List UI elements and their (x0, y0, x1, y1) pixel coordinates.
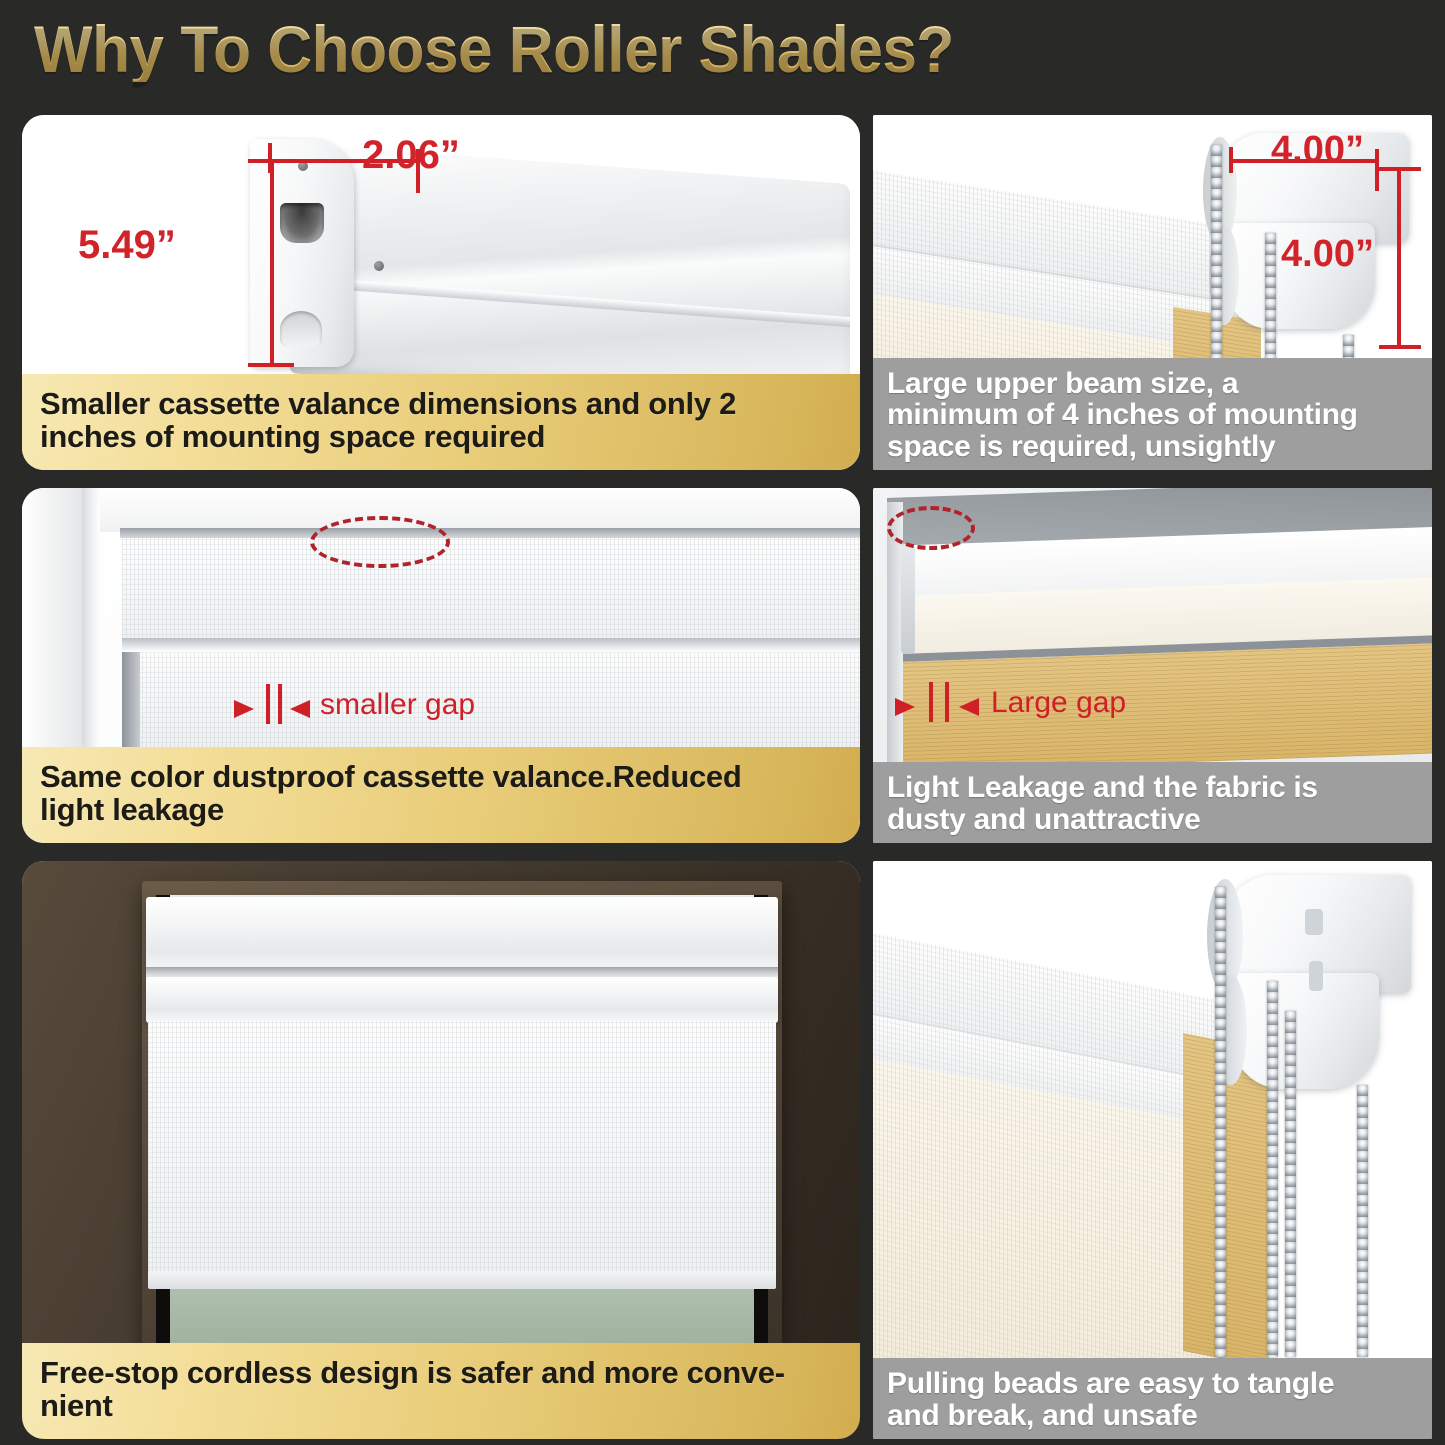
lower-bracket (1231, 973, 1379, 1089)
panel-caption: Pulling beads are easy to tangle and bre… (873, 1358, 1432, 1439)
cassette-valance (146, 897, 778, 975)
gap-arrow-left-icon (959, 698, 979, 716)
dusty-fabric (903, 643, 1432, 772)
height-dimension-tick-top (248, 159, 294, 163)
valance-lower-band (146, 977, 778, 1023)
height-dimension-label: 5.49” (78, 223, 176, 268)
gap-highlight-ellipse (310, 516, 450, 568)
bead-chain-icon (1285, 1011, 1296, 1357)
valance-bottom-rail (122, 638, 860, 652)
bracket-slot-icon (1309, 961, 1323, 991)
gap-arrow-right-icon (895, 698, 915, 716)
panel-caption: Light Leakage and the fabric is dusty an… (873, 762, 1432, 843)
panel-free-stop-cordless-design: Free-stop cordless design is safer and m… (22, 861, 860, 1439)
infographic-page: Why To Choose Roller Shades? 2.06” (0, 0, 1445, 1445)
panel-large-upper-beam: 4.00” 4.00” Large upper beam size, a min… (873, 115, 1432, 470)
page-title: Why To Choose Roller Shades? (34, 16, 954, 82)
fabric-side-edge (122, 652, 140, 748)
width-dimension-label: 4.00” (1271, 129, 1364, 172)
bottom-rail (148, 1271, 776, 1289)
panel-dustproof-cassette-valance: smaller gap Same color dustproof cassett… (22, 488, 860, 843)
gap-tick-left (929, 682, 933, 722)
width-dimension-tick-left (1229, 147, 1233, 173)
bead-chain-icon (1267, 981, 1278, 1357)
width-dimension-label: 2.06” (362, 133, 460, 178)
gap-tick-right (278, 684, 282, 724)
casing-bead (82, 488, 100, 748)
panel-pulling-beads-unsafe: Pulling beads are easy to tangle and bre… (873, 861, 1432, 1439)
gap-tick-right (945, 682, 949, 722)
bracket-slot-icon (1305, 909, 1323, 935)
panel-caption: Same color dustproof cassette valance.Re… (22, 747, 860, 843)
valance-slot-upper (280, 203, 324, 243)
height-dimension-tick-bottom (1379, 345, 1421, 349)
bead-chain-icon (1215, 887, 1226, 1357)
height-dimension-line (1397, 167, 1401, 349)
panel-caption: Large upper beam size, a minimum of 4 in… (873, 358, 1432, 471)
bead-chain-icon (1357, 1085, 1368, 1357)
shade-fabric (148, 1021, 776, 1283)
valance-top-edge (120, 528, 860, 538)
panel-light-leakage-dusty-fabric: Large gap Light Leakage and the fabric i… (873, 488, 1432, 843)
gap-highlight-ellipse (887, 506, 975, 550)
height-dimension-label: 4.00” (1281, 233, 1374, 276)
beaded-chain-shade-photo (873, 861, 1432, 1439)
panel-smaller-cassette-valance: 2.06” 5.49” Smaller cassette valance dim… (22, 115, 860, 470)
panel-caption: Smaller cassette valance dimensions and … (22, 374, 860, 470)
gap-arrow-left-icon (290, 700, 310, 718)
panel-grid: 2.06” 5.49” Smaller cassette valance dim… (0, 110, 1445, 1445)
gap-arrow-right-icon (234, 700, 254, 718)
height-dimension-tick-top (1379, 167, 1421, 171)
gap-callout-label: smaller gap (320, 688, 475, 722)
mounting-clip (901, 544, 915, 654)
panel-caption: Free-stop cordless design is safer and m… (22, 1343, 860, 1439)
gap-tick-left (266, 684, 270, 724)
cassette-valance-face (122, 538, 860, 650)
height-dimension-tick-bottom (248, 363, 294, 367)
gap-callout-label: Large gap (991, 686, 1126, 720)
height-dimension-line (270, 159, 274, 367)
screw-icon (374, 261, 384, 271)
window-casing-top (100, 488, 860, 532)
valance-slot-lower (280, 311, 322, 347)
